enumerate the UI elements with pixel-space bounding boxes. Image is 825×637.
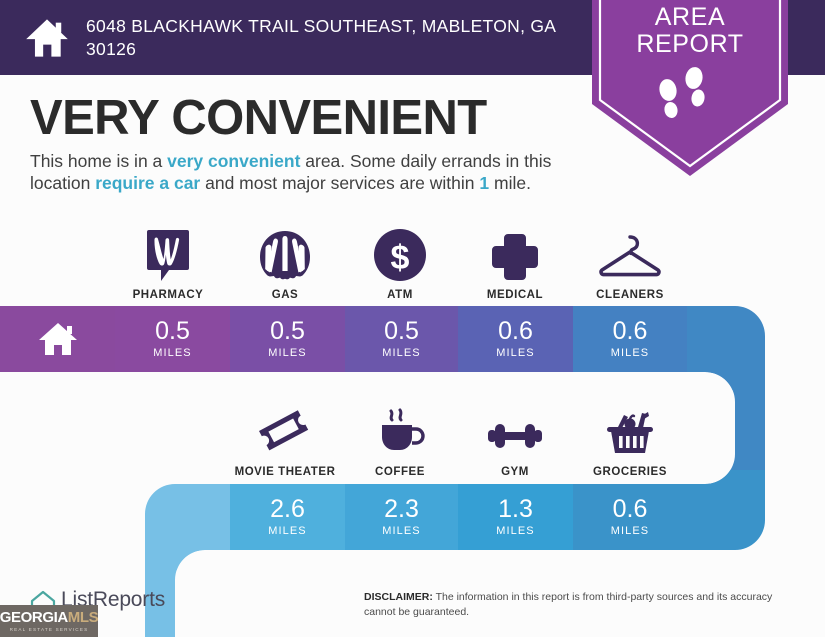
distance-value: 0.5 xyxy=(270,319,305,344)
distance-unit: MILES xyxy=(268,525,307,537)
shell-gas-icon xyxy=(258,226,312,282)
category-label: GYM xyxy=(501,466,529,478)
distance-coffee: 2.3 MILES xyxy=(345,484,458,550)
area-report-badge: AREA REPORT xyxy=(592,0,788,176)
area-report-page: 0.5 MILES 0.5 MILES 0.5 MILES 0.6 MILES … xyxy=(0,0,825,637)
page-title: VERY CONVENIENT xyxy=(30,94,487,143)
ribbon-seg-elbow-bottom xyxy=(687,470,825,570)
summary-part-1: This home is in a xyxy=(30,151,167,171)
dumbbell-icon xyxy=(483,403,547,459)
distance-pharmacy: 0.5 MILES xyxy=(115,306,230,372)
summary-highlight-1: very convenient xyxy=(167,151,300,171)
category-label: GROCERIES xyxy=(593,466,667,478)
category-groceries: GROCERIES xyxy=(573,392,687,478)
distance-movie-theater: 2.6 MILES xyxy=(230,484,345,550)
category-label: PHARMACY xyxy=(133,289,204,301)
distance-gym: 1.3 MILES xyxy=(458,484,573,550)
category-coffee: COFFEE xyxy=(343,392,457,478)
mls-georgia-text: GEORGIA xyxy=(0,609,68,626)
category-icon-row-2: MOVIE THEATER COFFEE xyxy=(0,392,825,478)
distance-atm: 0.5 MILES xyxy=(345,306,458,372)
category-label: MOVIE THEATER xyxy=(235,466,336,478)
category-gym: GYM xyxy=(458,392,572,478)
mls-tagline: REAL ESTATE SERVICES xyxy=(10,627,89,632)
category-label: MEDICAL xyxy=(487,289,543,301)
georgia-mls-logo: GEORGIAMLS REAL ESTATE SERVICES xyxy=(0,605,98,637)
distance-groceries: 0.6 MILES xyxy=(573,484,687,550)
distance-value: 0.6 xyxy=(498,319,533,344)
category-movie-theater: MOVIE THEATER xyxy=(228,392,342,478)
distance-value: 0.6 xyxy=(613,497,648,522)
summary-part-4: mile. xyxy=(489,173,531,193)
distance-unit: MILES xyxy=(382,525,421,537)
summary-part-3: and most major services are within xyxy=(200,173,479,193)
home-icon xyxy=(24,16,70,60)
distance-unit: MILES xyxy=(611,525,650,537)
home-icon xyxy=(37,321,79,357)
category-icon-row-1: PHARMACY GAS $ xyxy=(0,215,825,301)
property-address: 6048 BLACKHAWK TRAIL SOUTHEAST, MABLETON… xyxy=(86,15,586,60)
distance-value: 2.3 xyxy=(384,497,419,522)
svg-text:$: $ xyxy=(391,239,410,277)
summary-highlight-2: require a car xyxy=(95,173,200,193)
clothes-hanger-icon xyxy=(595,226,665,282)
distance-medical: 0.6 MILES xyxy=(458,306,573,372)
category-pharmacy: PHARMACY xyxy=(111,215,225,301)
summary-highlight-3: 1 xyxy=(479,173,489,193)
badge-shield-shape xyxy=(592,0,788,176)
mls-mls-text: MLS xyxy=(68,609,98,626)
category-gas: GAS xyxy=(228,215,342,301)
category-label: COFFEE xyxy=(375,466,425,478)
summary-text: This home is in a very convenient area. … xyxy=(30,150,590,195)
category-label: GAS xyxy=(272,289,299,301)
distance-unit: MILES xyxy=(496,347,535,359)
category-medical: MEDICAL xyxy=(458,215,572,301)
medical-cross-icon xyxy=(490,226,540,282)
distance-cleaners: 0.6 MILES xyxy=(573,306,687,372)
coffee-cup-icon xyxy=(373,403,427,459)
movie-ticket-icon xyxy=(257,403,313,459)
mls-wordmark: GEORGIAMLS xyxy=(0,610,98,625)
dollar-circle-icon: $ xyxy=(373,226,427,282)
distance-value: 0.6 xyxy=(613,319,648,344)
category-label: CLEANERS xyxy=(596,289,664,301)
distance-value: 2.6 xyxy=(270,497,305,522)
distance-unit: MILES xyxy=(153,347,192,359)
ribbon-home-cell xyxy=(0,306,115,372)
distance-unit: MILES xyxy=(268,347,307,359)
distance-value: 0.5 xyxy=(155,319,190,344)
distance-unit: MILES xyxy=(611,347,650,359)
distance-gas: 0.5 MILES xyxy=(230,306,345,372)
grocery-basket-icon xyxy=(602,403,658,459)
category-cleaners: CLEANERS xyxy=(573,215,687,301)
distance-unit: MILES xyxy=(382,347,421,359)
disclaimer-label: DISCLAIMER: xyxy=(364,591,433,603)
distance-unit: MILES xyxy=(496,525,535,537)
distance-value: 1.3 xyxy=(498,497,533,522)
category-label: ATM xyxy=(387,289,413,301)
walgreens-pharmacy-icon xyxy=(143,226,193,282)
category-atm: $ ATM xyxy=(343,215,457,301)
disclaimer: DISCLAIMER: The information in this repo… xyxy=(364,590,784,620)
distance-value: 0.5 xyxy=(384,319,419,344)
